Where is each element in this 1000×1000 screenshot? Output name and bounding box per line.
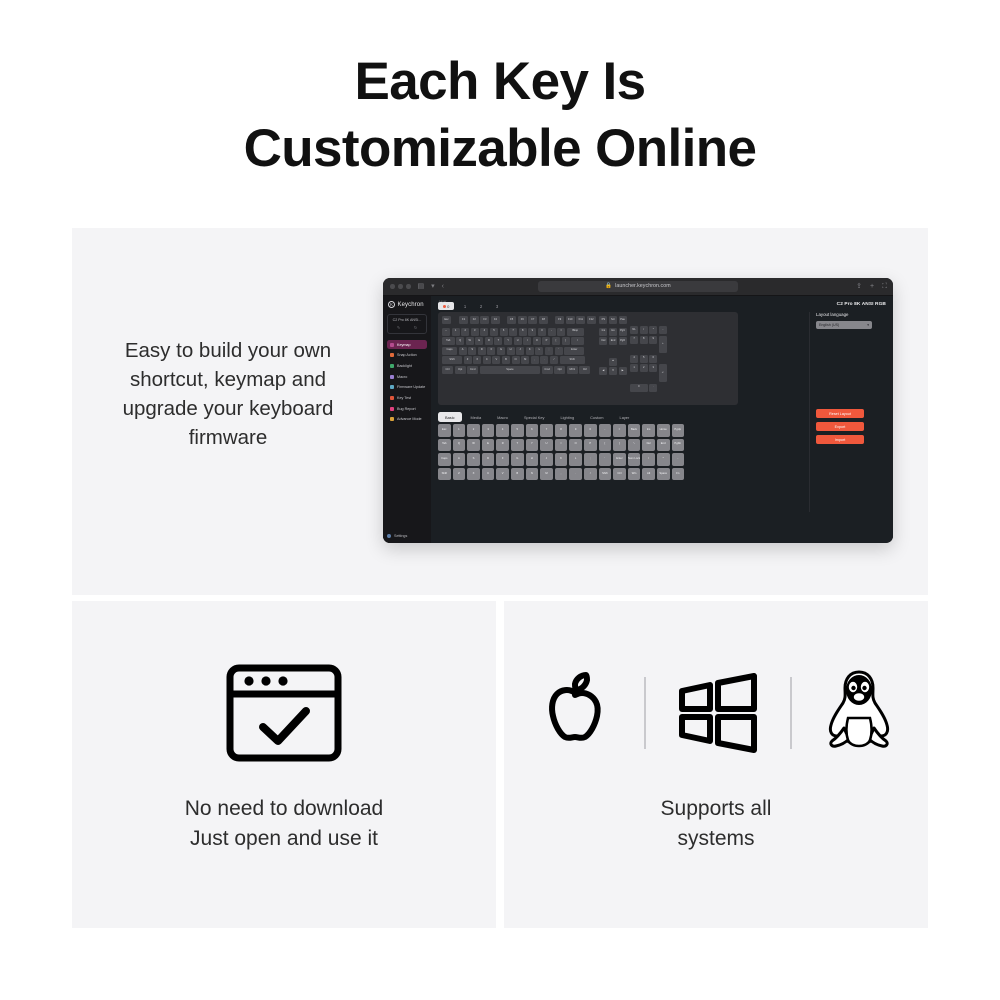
picker-key[interactable]: 5 [511,424,524,437]
sidebar-item-bug-report[interactable]: Bug Report [387,404,427,413]
firmware-update-icon [390,385,394,389]
layer-indicator-icon [443,305,446,308]
picker-key[interactable]: 1 [453,424,466,437]
key-t[interactable]: T [494,337,502,345]
picker-key[interactable]: [ [599,439,612,452]
picker-key[interactable]: K [555,453,568,466]
picker-key[interactable]: Shift [599,468,612,481]
key-page-down[interactable]: PgD [619,337,627,345]
key-3[interactable]: 3 [471,328,479,336]
key-enter[interactable]: Enter [564,347,584,355]
address-bar-url: launcher.keychron.com [615,284,671,289]
picker-key[interactable]: ; [584,453,597,466]
key-arrow-down[interactable]: ▼ [609,367,617,375]
close-window-icon[interactable] [390,284,395,289]
key-numpad-2[interactable]: 2 [640,364,648,372]
icon-divider [644,677,646,749]
picker-key[interactable]: PgDn [672,439,685,452]
all-systems-caption-line-2: systems [504,824,928,854]
picker-key[interactable]: PgUp [672,424,685,437]
key-numpad-4[interactable]: 4 [630,355,638,363]
picker-key[interactable]: P [584,439,597,452]
key-1[interactable]: 1 [452,328,460,336]
picker-key[interactable]: Z [453,468,466,481]
key-z[interactable]: Z [464,356,472,364]
tab-overview-icon[interactable]: ⛶ [882,283,887,290]
key-quote[interactable]: ' [555,347,563,355]
picker-key[interactable]: Del [642,439,655,452]
key-y[interactable]: Y [504,337,512,345]
key-numpad-1[interactable]: 1 [630,364,638,372]
key-p[interactable]: P [542,337,550,345]
picker-key[interactable]: Back [628,424,641,437]
numpad-row: NL / * - [630,326,667,334]
key-picker-row: Tab Q W E R T Y U I O P [ ] \ De [438,439,684,452]
key-period[interactable]: . [540,356,548,364]
key-backslash[interactable]: \ [571,337,584,345]
key-arrow-up[interactable]: ▲ [609,358,617,366]
import-button[interactable]: Import [816,435,864,444]
key-j[interactable]: J [516,347,524,355]
device-actions: ✎ ↻ [390,325,424,330]
keyboard-visual[interactable]: Esc F1 F2 F3 F4 F5 F6 F7 F8 [438,312,738,405]
key-space[interactable]: Space [480,366,540,374]
sidebar-item-label: Backlight [397,364,412,368]
browser-toolbar-actions: ⇪ + ⛶ [856,283,887,290]
tab-lighting[interactable]: Lighting [553,412,581,422]
sidebar-item-label: Snap Action [397,353,417,357]
layout-language-panel: Layout language English (US) ▾ Reset Lay… [809,312,889,512]
sidebar-icon[interactable]: ▤ [418,283,425,290]
layer-tab-label: 0 [447,304,449,309]
key-s[interactable]: S [468,347,476,355]
backlight-icon [390,364,394,368]
sidebar-item-macro[interactable]: Macro [387,372,427,381]
bug-report-icon [390,407,394,411]
picker-key[interactable]: T [511,439,524,452]
picker-key[interactable]: Esc [438,424,451,437]
keyboard-bottom-row: Ctrl Opt Cmd Space Cmd Opt MO1 Ctrl [442,366,596,374]
picker-key[interactable]: \ [628,439,641,452]
all-systems-caption: Supports all systems [504,794,928,853]
picker-key[interactable]: M [540,468,553,481]
key-picker-row: Caps A S D F G H J K L ; ' Enter Num Loc… [438,453,684,466]
picker-key[interactable]: = [613,424,626,437]
key-print-screen[interactable]: PS [599,316,607,324]
sidebar-item-firmware-update[interactable]: Firmware Update [387,383,427,392]
picker-key[interactable]: - [672,453,685,466]
key-gap [619,358,627,366]
picker-key[interactable]: C [482,468,495,481]
key-f5[interactable]: F5 [507,316,516,324]
numpad-row: 0 . [630,384,667,392]
picker-key[interactable]: * [657,453,670,466]
picker-key[interactable]: Space [657,468,670,481]
sidebar-item-settings[interactable]: Settings [387,534,407,538]
key-f7[interactable]: F7 [528,316,537,324]
key-page-up[interactable]: PgU [619,328,627,336]
picker-key[interactable]: Enter [613,453,626,466]
key-i[interactable]: I [523,337,531,345]
key-numpad-divide[interactable]: / [640,326,648,334]
key-picker-row: Esc 1 2 3 4 5 6 7 8 9 0 - = Back [438,424,684,437]
key-esc[interactable]: Esc [442,316,451,324]
layout-actions: Reset Layout Export Import [816,409,864,444]
sidebar-item-key-test[interactable]: Key Test [387,393,427,402]
picker-key[interactable]: End [657,439,670,452]
tab-macro[interactable]: Macro [490,412,515,422]
key-pause[interactable]: Pau [619,316,627,324]
key-d[interactable]: D [478,347,486,355]
window-traffic-lights[interactable] [390,284,411,289]
browser-window-mockup: ▤ ▾ ‹ 🔒 launcher.keychron.com ⇪ + ⛶ K Ke… [383,278,893,543]
layout-language-value: English (US) [819,323,839,327]
key-semicolon[interactable]: ; [545,347,553,355]
sidebar-item-label: Bug Report [397,407,416,411]
chevron-down-icon: ▾ [867,323,869,327]
sidebar-item-advance-mode[interactable]: Advance Mode [387,415,427,424]
advance-mode-icon [390,417,394,421]
key-backtick[interactable]: ~ [442,328,450,336]
key-f12[interactable]: F12 [587,316,596,324]
key-o[interactable]: O [533,337,541,345]
key-f4[interactable]: F4 [491,316,500,324]
key-c[interactable]: C [483,356,491,364]
picker-key[interactable]: U [540,439,553,452]
picker-key[interactable]: Num Lock [628,453,641,466]
picker-key[interactable]: / [584,468,597,481]
picker-key[interactable]: W [467,439,480,452]
layer-tab-0[interactable]: 0 [438,302,454,310]
key-g[interactable]: G [497,347,505,355]
headline-line-1: Each Key Is [0,48,1000,115]
keychron-logo-icon: K [388,301,395,308]
launcher-description-line-1: Easy to build your [125,339,288,362]
picker-key[interactable]: Caps [438,453,451,466]
picker-key[interactable]: E [482,439,495,452]
key-ctrl-right[interactable]: Ctrl [579,366,590,374]
picker-key[interactable]: N [526,468,539,481]
key-numpad-decimal[interactable]: . [649,384,657,392]
key-cmd-left[interactable]: Cmd [467,366,478,374]
key-f6[interactable]: F6 [518,316,527,324]
key-arrow-right[interactable]: ▶ [619,367,627,375]
linux-tux-icon [822,668,896,758]
picker-key[interactable]: H [526,453,539,466]
key-m[interactable]: M [521,356,529,364]
brand-name: Keychron [398,302,424,308]
key-f10[interactable]: F10 [566,316,575,324]
key-2[interactable]: 2 [461,328,469,336]
picker-key[interactable]: J [540,453,553,466]
key-numpad-7[interactable]: 7 [630,336,638,344]
os-support-icons [504,655,928,771]
picker-key[interactable]: 3 [482,424,495,437]
apple-logo-icon [536,668,614,758]
layer-selector: Layer 0 1 2 3 [438,302,502,310]
keymap-icon [390,343,394,347]
key-n[interactable]: N [512,356,520,364]
picker-key[interactable]: ] [613,439,626,452]
key-numpad-3[interactable]: 3 [649,364,657,372]
key-numpad-5[interactable]: 5 [640,355,648,363]
pencil-icon[interactable]: ✎ [397,325,400,330]
picker-key[interactable]: 4 [496,424,509,437]
picker-key[interactable]: Ctrl [613,468,626,481]
key-8[interactable]: 8 [519,328,527,336]
address-bar[interactable]: 🔒 launcher.keychron.com [538,281,738,292]
numpad-row: 7 8 9 + [630,336,667,354]
launcher-description-line-5: firmware [189,426,268,449]
picker-key[interactable]: Win [628,468,641,481]
key-scroll-lock[interactable]: Scr [609,316,617,324]
back-chevron-icon[interactable]: ‹ [442,283,444,290]
keyboard-function-row: Esc F1 F2 F3 F4 F5 F6 F7 F8 [442,316,596,324]
key-u[interactable]: U [514,337,522,345]
key-numpad-minus[interactable]: - [659,326,667,334]
picker-key[interactable]: D [482,453,495,466]
sidebar-item-label: Key Test [397,396,411,400]
settings-label: Settings [394,534,407,538]
picker-key[interactable]: , [555,468,568,481]
key-shift-right[interactable]: Shift [560,356,585,364]
picker-key[interactable]: Y [526,439,539,452]
key-bracket-right[interactable]: ] [562,337,570,345]
key-bracket-left[interactable]: [ [552,337,560,345]
key-l[interactable]: L [535,347,543,355]
layout-language-select[interactable]: English (US) ▾ [816,321,872,329]
key-0[interactable]: 0 [538,328,546,336]
chevron-down-icon[interactable]: ▾ [431,283,435,290]
picker-key[interactable]: 0 [584,424,597,437]
no-download-caption: No need to download Just open and use it [72,794,496,853]
key-numpad-plus[interactable]: + [659,336,667,354]
tab-basic[interactable]: Basic [438,412,462,422]
key-mo1[interactable]: MO1 [567,366,578,374]
layout-language-title: Layout language [816,312,889,317]
layer-tab-2[interactable]: 2 [476,304,486,309]
keyboard-home-row: Caps A S D F G H J K L ; [442,347,596,355]
browser-toolbar: ▤ ▾ ‹ 🔒 launcher.keychron.com ⇪ + ⛶ [383,278,893,296]
key-caps-lock[interactable]: Caps [442,347,457,355]
icon-divider [790,677,792,749]
key-q[interactable]: Q [456,337,464,345]
key-end[interactable]: End [609,337,617,345]
picker-key[interactable]: Q [453,439,466,452]
keyboard-nav-cluster: PS Scr Pau Ins Ho PgU Del En [599,316,626,392]
launcher-description: Easy to build your own shortcut, keymap … [96,336,360,452]
picker-key[interactable]: - [599,424,612,437]
picker-key[interactable]: V [496,468,509,481]
sidebar-nav: Keymap Snap Action Backlight Macro [387,340,427,424]
keyboard-nav-row: Ins Ho PgU [599,328,626,336]
key-4[interactable]: 4 [480,328,488,336]
brand: K Keychron [387,301,427,308]
key-5[interactable]: 5 [490,328,498,336]
picker-key[interactable]: O [569,439,582,452]
key-f2[interactable]: F2 [470,316,479,324]
keyboard-nav-row: Del End PgD [599,337,626,345]
picker-key[interactable]: Ins [642,424,655,437]
key-num-lock[interactable]: NL [630,326,638,334]
sidebar-item-label: Keymap [397,343,411,347]
key-a[interactable]: A [459,347,467,355]
picker-key[interactable]: . [569,468,582,481]
key-picker-tabs: Basic Media Macro Special Key Lighting C… [438,412,636,422]
keyboard-arrow-row: ▲ [599,358,626,366]
keyboard-qwerty-row: Tab Q W E R T Y U I O P [442,337,596,345]
device-selector[interactable]: C2 Pro 8K ANSI... ✎ ↻ [387,314,427,334]
refresh-icon[interactable]: ↻ [414,325,417,330]
key-minus[interactable]: - [548,328,556,336]
key-insert[interactable]: Ins [599,328,607,336]
picker-key[interactable]: Tab [438,439,451,452]
key-ctrl-left[interactable]: Ctrl [442,366,453,374]
app-sidebar: K Keychron C2 Pro 8K ANSI... ✎ ↻ Keymap [383,296,431,543]
key-delete[interactable]: Del [599,337,607,345]
key-numpad-9[interactable]: 9 [649,336,657,344]
tab-layer[interactable]: Layer [613,412,637,422]
keychron-launcher-app: K Keychron C2 Pro 8K ANSI... ✎ ↻ Keymap [383,296,893,543]
key-backspace[interactable]: Bksp [567,328,584,336]
key-opt-right[interactable]: Opt [554,366,565,374]
picker-key[interactable]: R [496,439,509,452]
key-6[interactable]: 6 [500,328,508,336]
key-7[interactable]: 7 [509,328,517,336]
layer-tab-3[interactable]: 3 [492,304,502,309]
picker-key[interactable]: L [569,453,582,466]
all-systems-caption-line-1: Supports all [504,794,928,824]
picker-key[interactable]: Shift [438,468,451,481]
export-button[interactable]: Export [816,422,864,431]
sidebar-item-backlight[interactable]: Backlight [387,361,427,370]
key-gap [453,316,458,324]
picker-key[interactable]: 7 [540,424,553,437]
picker-key[interactable]: 2 [467,424,480,437]
picker-key[interactable]: Home [657,424,670,437]
sidebar-item-label: Firmware Update [397,385,425,389]
share-icon[interactable]: ⇪ [856,283,862,290]
key-f8[interactable]: F8 [539,316,548,324]
key-numpad-6[interactable]: 6 [649,355,657,363]
layer-caption: Layer [439,299,447,303]
key-numpad-0[interactable]: 0 [630,384,648,392]
keyboard-nav-row: PS Scr Pau [599,316,626,324]
minimize-window-icon[interactable] [398,284,403,289]
key-tab[interactable]: Tab [442,337,455,345]
tab-media[interactable]: Media [464,412,489,422]
key-numpad-8[interactable]: 8 [640,336,648,344]
key-home[interactable]: Ho [609,328,617,336]
key-shift-left[interactable]: Shift [442,356,462,364]
picker-key[interactable]: / [642,453,655,466]
key-f3[interactable]: F3 [480,316,489,324]
picker-key[interactable]: Alt [642,468,655,481]
promo-page: Each Key Is Customizable Online Easy to … [0,0,1000,1000]
keyboard-clusters: Esc F1 F2 F3 F4 F5 F6 F7 F8 [442,316,734,392]
keyboard-number-row: ~ 1 2 3 4 5 6 7 8 9 0 - [442,328,596,336]
picker-key[interactable]: 6 [526,424,539,437]
picker-key[interactable]: 8 [555,424,568,437]
sidebar-item-snap-action[interactable]: Snap Action [387,351,427,360]
picker-key[interactable]: B [511,468,524,481]
key-gap [502,316,506,324]
numpad-row: 4 5 6 [630,355,667,363]
key-f[interactable]: F [487,347,495,355]
key-comma[interactable]: , [531,356,539,364]
key-equal[interactable]: = [557,328,565,336]
key-h[interactable]: H [507,347,515,355]
key-f1[interactable]: F1 [459,316,468,324]
key-r[interactable]: R [485,337,493,345]
picker-key[interactable]: I [555,439,568,452]
tab-custom[interactable]: Custom [583,412,610,422]
key-k[interactable]: K [526,347,534,355]
key-numpad-multiply[interactable]: * [649,326,657,334]
sidebar-item-keymap[interactable]: Keymap [387,340,427,349]
snap-action-icon [390,353,394,357]
reset-layout-button[interactable]: Reset Layout [816,409,864,418]
keyboard-numpad: NL / * - 7 8 9 + [630,326,667,392]
key-b[interactable]: B [502,356,510,364]
key-arrow-left[interactable]: ◀ [599,367,607,375]
browser-window-check-icon [72,648,496,778]
key-f11[interactable]: F11 [576,316,585,324]
picker-key[interactable]: G [511,453,524,466]
key-picker-row: Shift Z X C V B N M , . / Shift Ctrl Win [438,468,684,481]
picker-key[interactable]: 9 [569,424,582,437]
key-cmd-right[interactable]: Cmd [542,366,553,374]
picker-key[interactable]: ' [599,453,612,466]
numpad-row: 1 2 3 ↵ [630,364,667,382]
keyboard-shift-row: Shift Z X C V B N M , . / [442,356,596,364]
app-main: Layer 0 1 2 3 C2 Pro 8K ANSI RGB [431,296,893,543]
picker-key[interactable]: S [467,453,480,466]
picker-key[interactable]: X [467,468,480,481]
key-test-icon [390,396,394,400]
keyboard-arrow-row: ◀ ▼ ▶ [599,367,626,375]
keyboard-model-title: C2 Pro 8K ANSI RGB [837,302,886,307]
key-9[interactable]: 9 [528,328,536,336]
picker-key[interactable]: A [453,453,466,466]
picker-key[interactable]: F [496,453,509,466]
sidebar-item-label: Macro [397,375,407,379]
key-x[interactable]: X [473,356,481,364]
tab-special-key[interactable]: Special Key [517,412,552,422]
layer-tab-1[interactable]: 1 [460,304,470,309]
key-opt-left[interactable]: Opt [455,366,466,374]
key-numpad-enter[interactable]: ↵ [659,364,667,382]
key-w[interactable]: W [466,337,474,345]
key-f9[interactable]: F9 [555,316,564,324]
key-gap [599,358,607,366]
main-header: Layer 0 1 2 3 C2 Pro 8K ANSI RGB [438,302,886,310]
lock-icon: 🔒 [605,284,612,290]
no-download-caption-line-2: Just open and use it [72,824,496,854]
no-download-caption-line-1: No need to download [72,794,496,824]
macro-icon [390,375,394,379]
key-slash[interactable]: / [550,356,558,364]
picker-key[interactable]: Fn [672,468,685,481]
new-tab-icon[interactable]: + [870,283,874,290]
windows-logo-icon [676,673,760,753]
keyboard-alpha-block: Esc F1 F2 F3 F4 F5 F6 F7 F8 [442,316,596,392]
key-v[interactable]: V [492,356,500,364]
headline-line-2: Customizable Online [0,115,1000,182]
key-e[interactable]: E [475,337,483,345]
zoom-window-icon[interactable] [406,284,411,289]
key-picker-grid: Esc 1 2 3 4 5 6 7 8 9 0 - = Back [438,424,684,480]
